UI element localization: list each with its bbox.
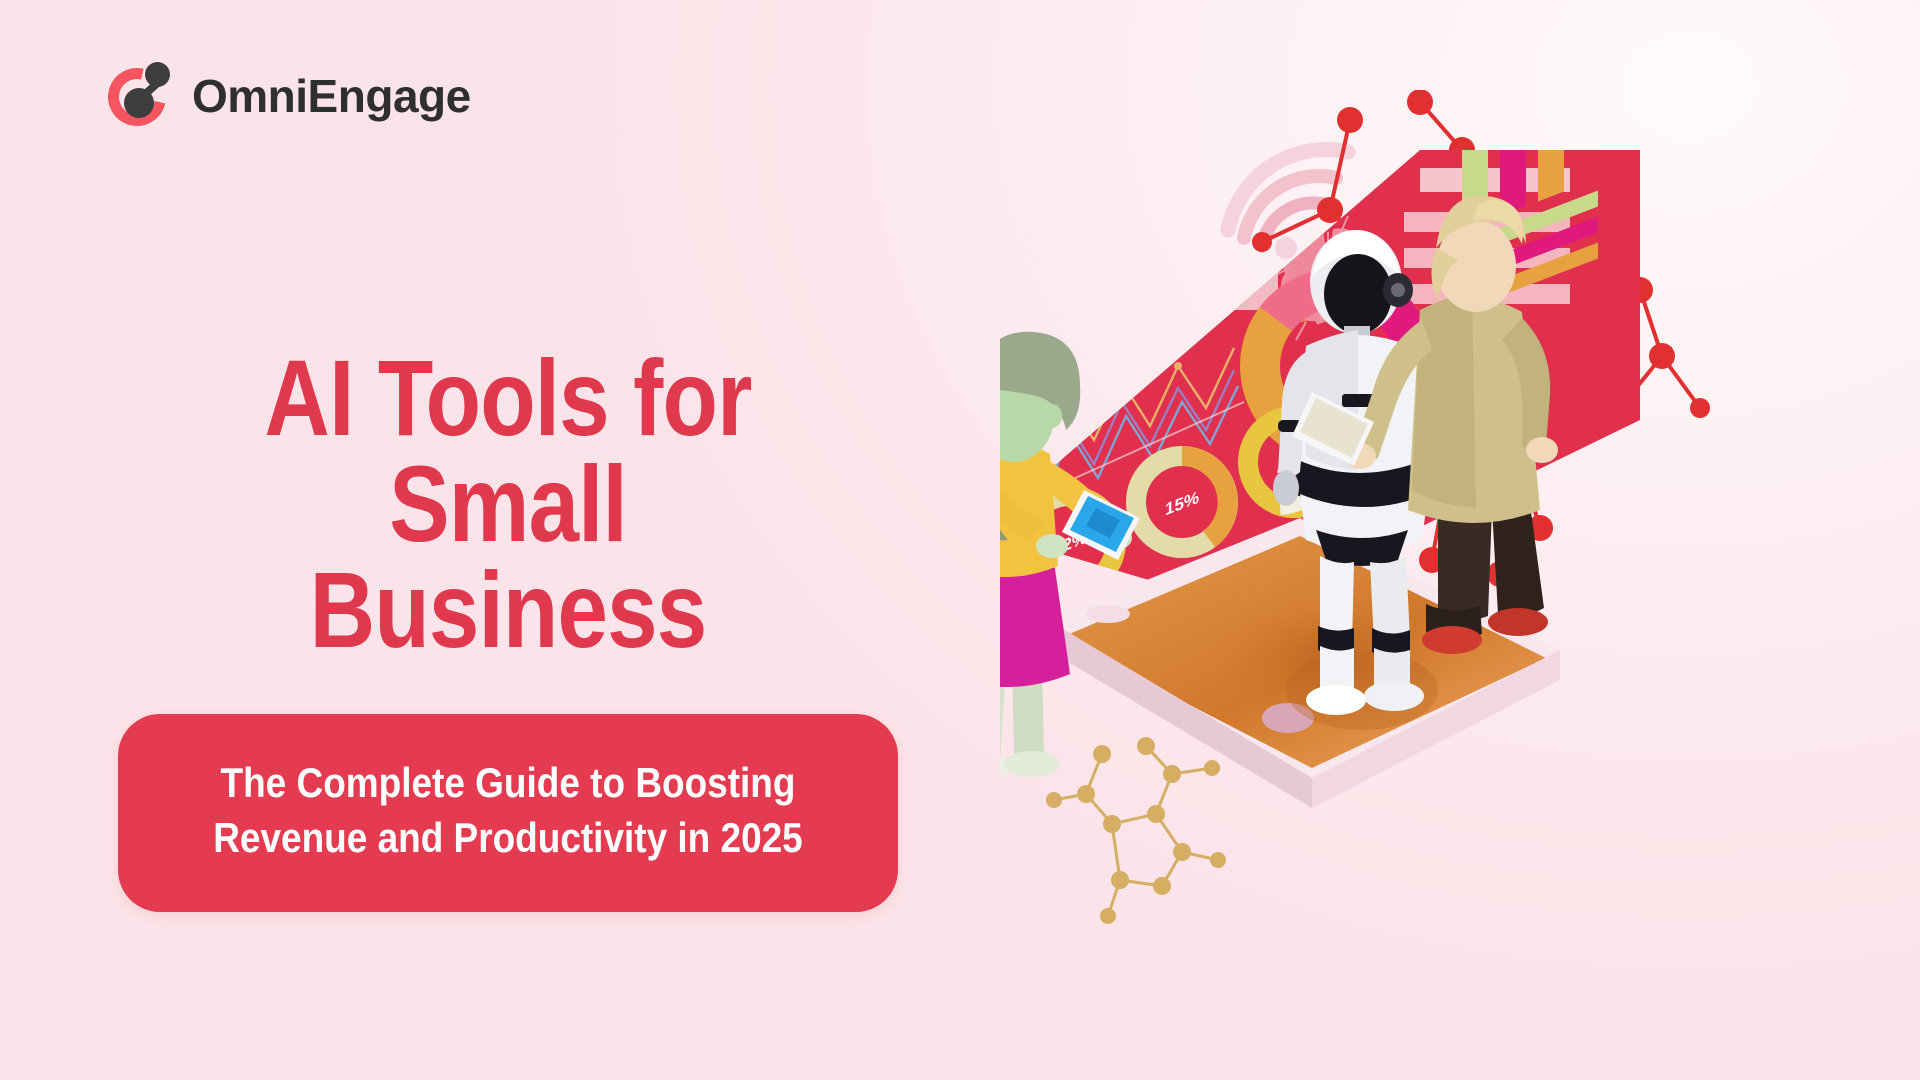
man-shoe-left bbox=[1422, 626, 1482, 654]
page-title-line-2: Business bbox=[180, 557, 835, 663]
hero-copy: AI Tools for Small Business The Complete… bbox=[118, 345, 898, 912]
robot-foot-right bbox=[1364, 681, 1424, 711]
subtitle-line-2: Revenue and Productivity in 2025 bbox=[195, 811, 822, 866]
robot-hand-left bbox=[1273, 470, 1299, 506]
poster-canvas: OmniEngage AI Tools for Small Business T… bbox=[0, 0, 1920, 1080]
man-shoe-right bbox=[1488, 608, 1548, 636]
molecule-small-cluster bbox=[1046, 737, 1226, 924]
omniengage-logo-icon bbox=[108, 62, 176, 130]
page-title: AI Tools for Small Business bbox=[180, 345, 835, 662]
logo-dot-center bbox=[124, 88, 154, 118]
phone-speaker bbox=[1086, 605, 1130, 623]
ai-business-isometric-illustration: 82% 15% 47% bbox=[1000, 90, 1920, 990]
page-title-line-1: AI Tools for Small bbox=[180, 345, 835, 557]
subtitle-banner: The Complete Guide to Boosting Revenue a… bbox=[118, 714, 898, 911]
subtitle-line-1: The Complete Guide to Boosting bbox=[195, 756, 822, 811]
logo-dot-outer bbox=[145, 62, 170, 87]
brand-logo[interactable]: OmniEngage bbox=[108, 62, 471, 130]
brand-name: OmniEngage bbox=[192, 69, 471, 123]
robot-foot-left bbox=[1306, 685, 1366, 715]
dashboard-search-bar bbox=[1148, 272, 1278, 310]
